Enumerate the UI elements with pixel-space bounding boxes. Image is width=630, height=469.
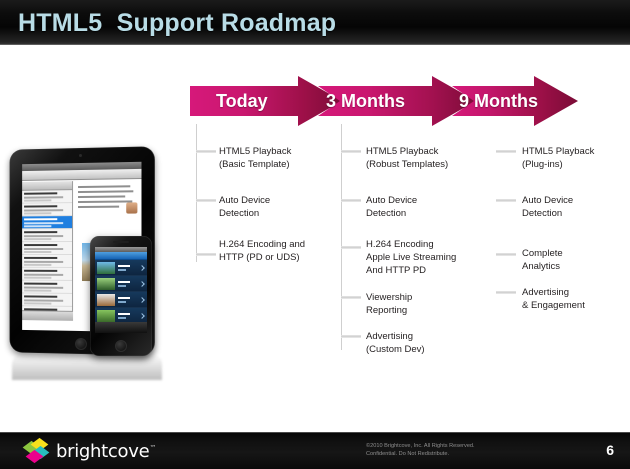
page-number: 6 (606, 442, 614, 458)
list-item (95, 292, 147, 308)
roadmap-item: Advertising & Engagement (522, 286, 628, 312)
column-3-tick (496, 150, 516, 153)
chevron-right-icon (139, 265, 145, 271)
column-3-tick (496, 199, 516, 202)
list-item (95, 276, 147, 292)
ipad-mail-list (22, 181, 73, 321)
slide-header-bar: HTML5 Support Roadmap (0, 0, 630, 45)
column-1-tick (196, 150, 216, 153)
roadmap-item: HTML5 Playback (Robust Templates) (366, 145, 502, 171)
ipad-camera-icon (79, 154, 82, 157)
chevron-right-icon (139, 297, 145, 303)
column-1-tick (196, 199, 216, 202)
iphone-screen (95, 247, 147, 333)
list-item (22, 242, 72, 255)
list-item (22, 229, 72, 242)
logo-wordmark: brightcove™ (56, 441, 156, 462)
ipad-toolbar (22, 169, 141, 181)
list-item (95, 260, 147, 276)
copyright-notice: ©2010 Brightcove, Inc. All Rights Reserv… (366, 443, 475, 458)
column-1-connector-line (196, 124, 197, 262)
list-item (22, 255, 72, 268)
iphone-speaker-icon (113, 241, 129, 243)
iphone-tab-bar (95, 322, 147, 333)
iphone-home-button (115, 340, 127, 352)
trademark-icon: ™ (149, 444, 156, 452)
column-2-tick (341, 150, 361, 153)
list-item (22, 190, 72, 204)
list-item (22, 281, 72, 294)
brightcove-logo: brightcove™ (26, 439, 156, 463)
column-3-tick (496, 253, 516, 256)
column-3-tick (496, 291, 516, 294)
column-2-tick (341, 296, 361, 299)
roadmap-item: Advertising (Custom Dev) (366, 330, 502, 356)
device-reflection (12, 354, 162, 380)
list-item (22, 268, 72, 281)
column-1-tick (196, 253, 216, 256)
device-illustration (2, 148, 180, 388)
roadmap-timeline: Today 3 Months 9 Months (0, 76, 630, 126)
iphone-device-image (90, 236, 152, 356)
page-title: HTML5 Support Roadmap (18, 9, 336, 38)
chevron-right-icon (139, 313, 145, 319)
column-2-connector-line (341, 124, 342, 350)
list-item (22, 216, 72, 229)
roadmap-item: HTML5 Playback (Basic Template) (219, 145, 351, 171)
slide-footer-bar: brightcove™ ©2010 Brightcove, Inc. All R… (0, 432, 630, 469)
list-item (22, 293, 72, 306)
timeline-arrow-today (190, 76, 342, 126)
avatar (126, 202, 137, 213)
column-2-tick (341, 335, 361, 338)
roadmap-item: H.264 Encoding Apple Live Streaming And … (366, 238, 502, 277)
logo-wordmark-text: brightcove (56, 441, 149, 462)
timeline-arrow-3-months (318, 76, 476, 126)
ipad-mail-bottom-bar (22, 310, 73, 321)
roadmap-item: Auto Device Detection (522, 194, 628, 220)
column-2-tick (341, 246, 361, 249)
roadmap-item: Auto Device Detection (366, 194, 502, 220)
list-item (22, 203, 72, 216)
brightcove-logo-icon (26, 439, 52, 463)
chevron-right-icon (139, 281, 145, 287)
roadmap-item: Complete Analytics (522, 247, 628, 273)
roadmap-item: Auto Device Detection (219, 194, 351, 220)
iphone-nav-bar (95, 252, 147, 260)
slide-root: HTML5 Support Roadmap (0, 0, 630, 469)
ipad-home-button (75, 338, 87, 350)
roadmap-item: H.264 Encoding and HTTP (PD or UDS) (219, 238, 359, 264)
roadmap-item: Viewership Reporting (366, 291, 502, 317)
roadmap-item: HTML5 Playback (Plug-ins) (522, 145, 628, 171)
column-2-tick (341, 199, 361, 202)
